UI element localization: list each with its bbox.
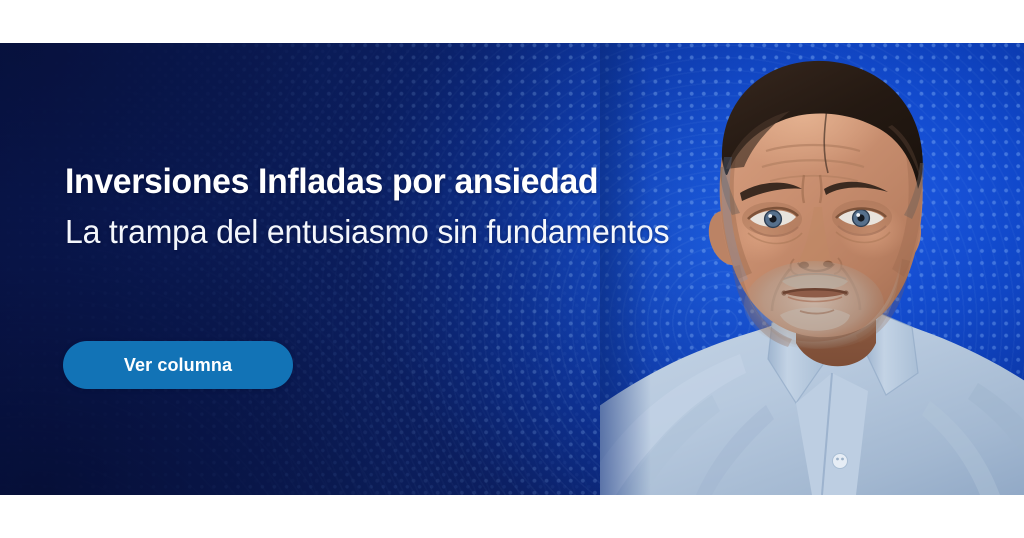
page-bottom-margin [0, 495, 1024, 538]
portrait-image [600, 43, 1024, 495]
ver-columna-button[interactable]: Ver columna [63, 341, 293, 389]
banner-stage: Inversiones Infladas por ansiedad La tra… [0, 0, 1024, 538]
page-top-margin [0, 0, 1024, 43]
banner-subheadline: La trampa del entusiasmo sin fundamentos [65, 211, 669, 253]
banner-headline: Inversiones Infladas por ansiedad [65, 161, 598, 203]
promo-banner: Inversiones Infladas por ansiedad La tra… [0, 43, 1024, 495]
